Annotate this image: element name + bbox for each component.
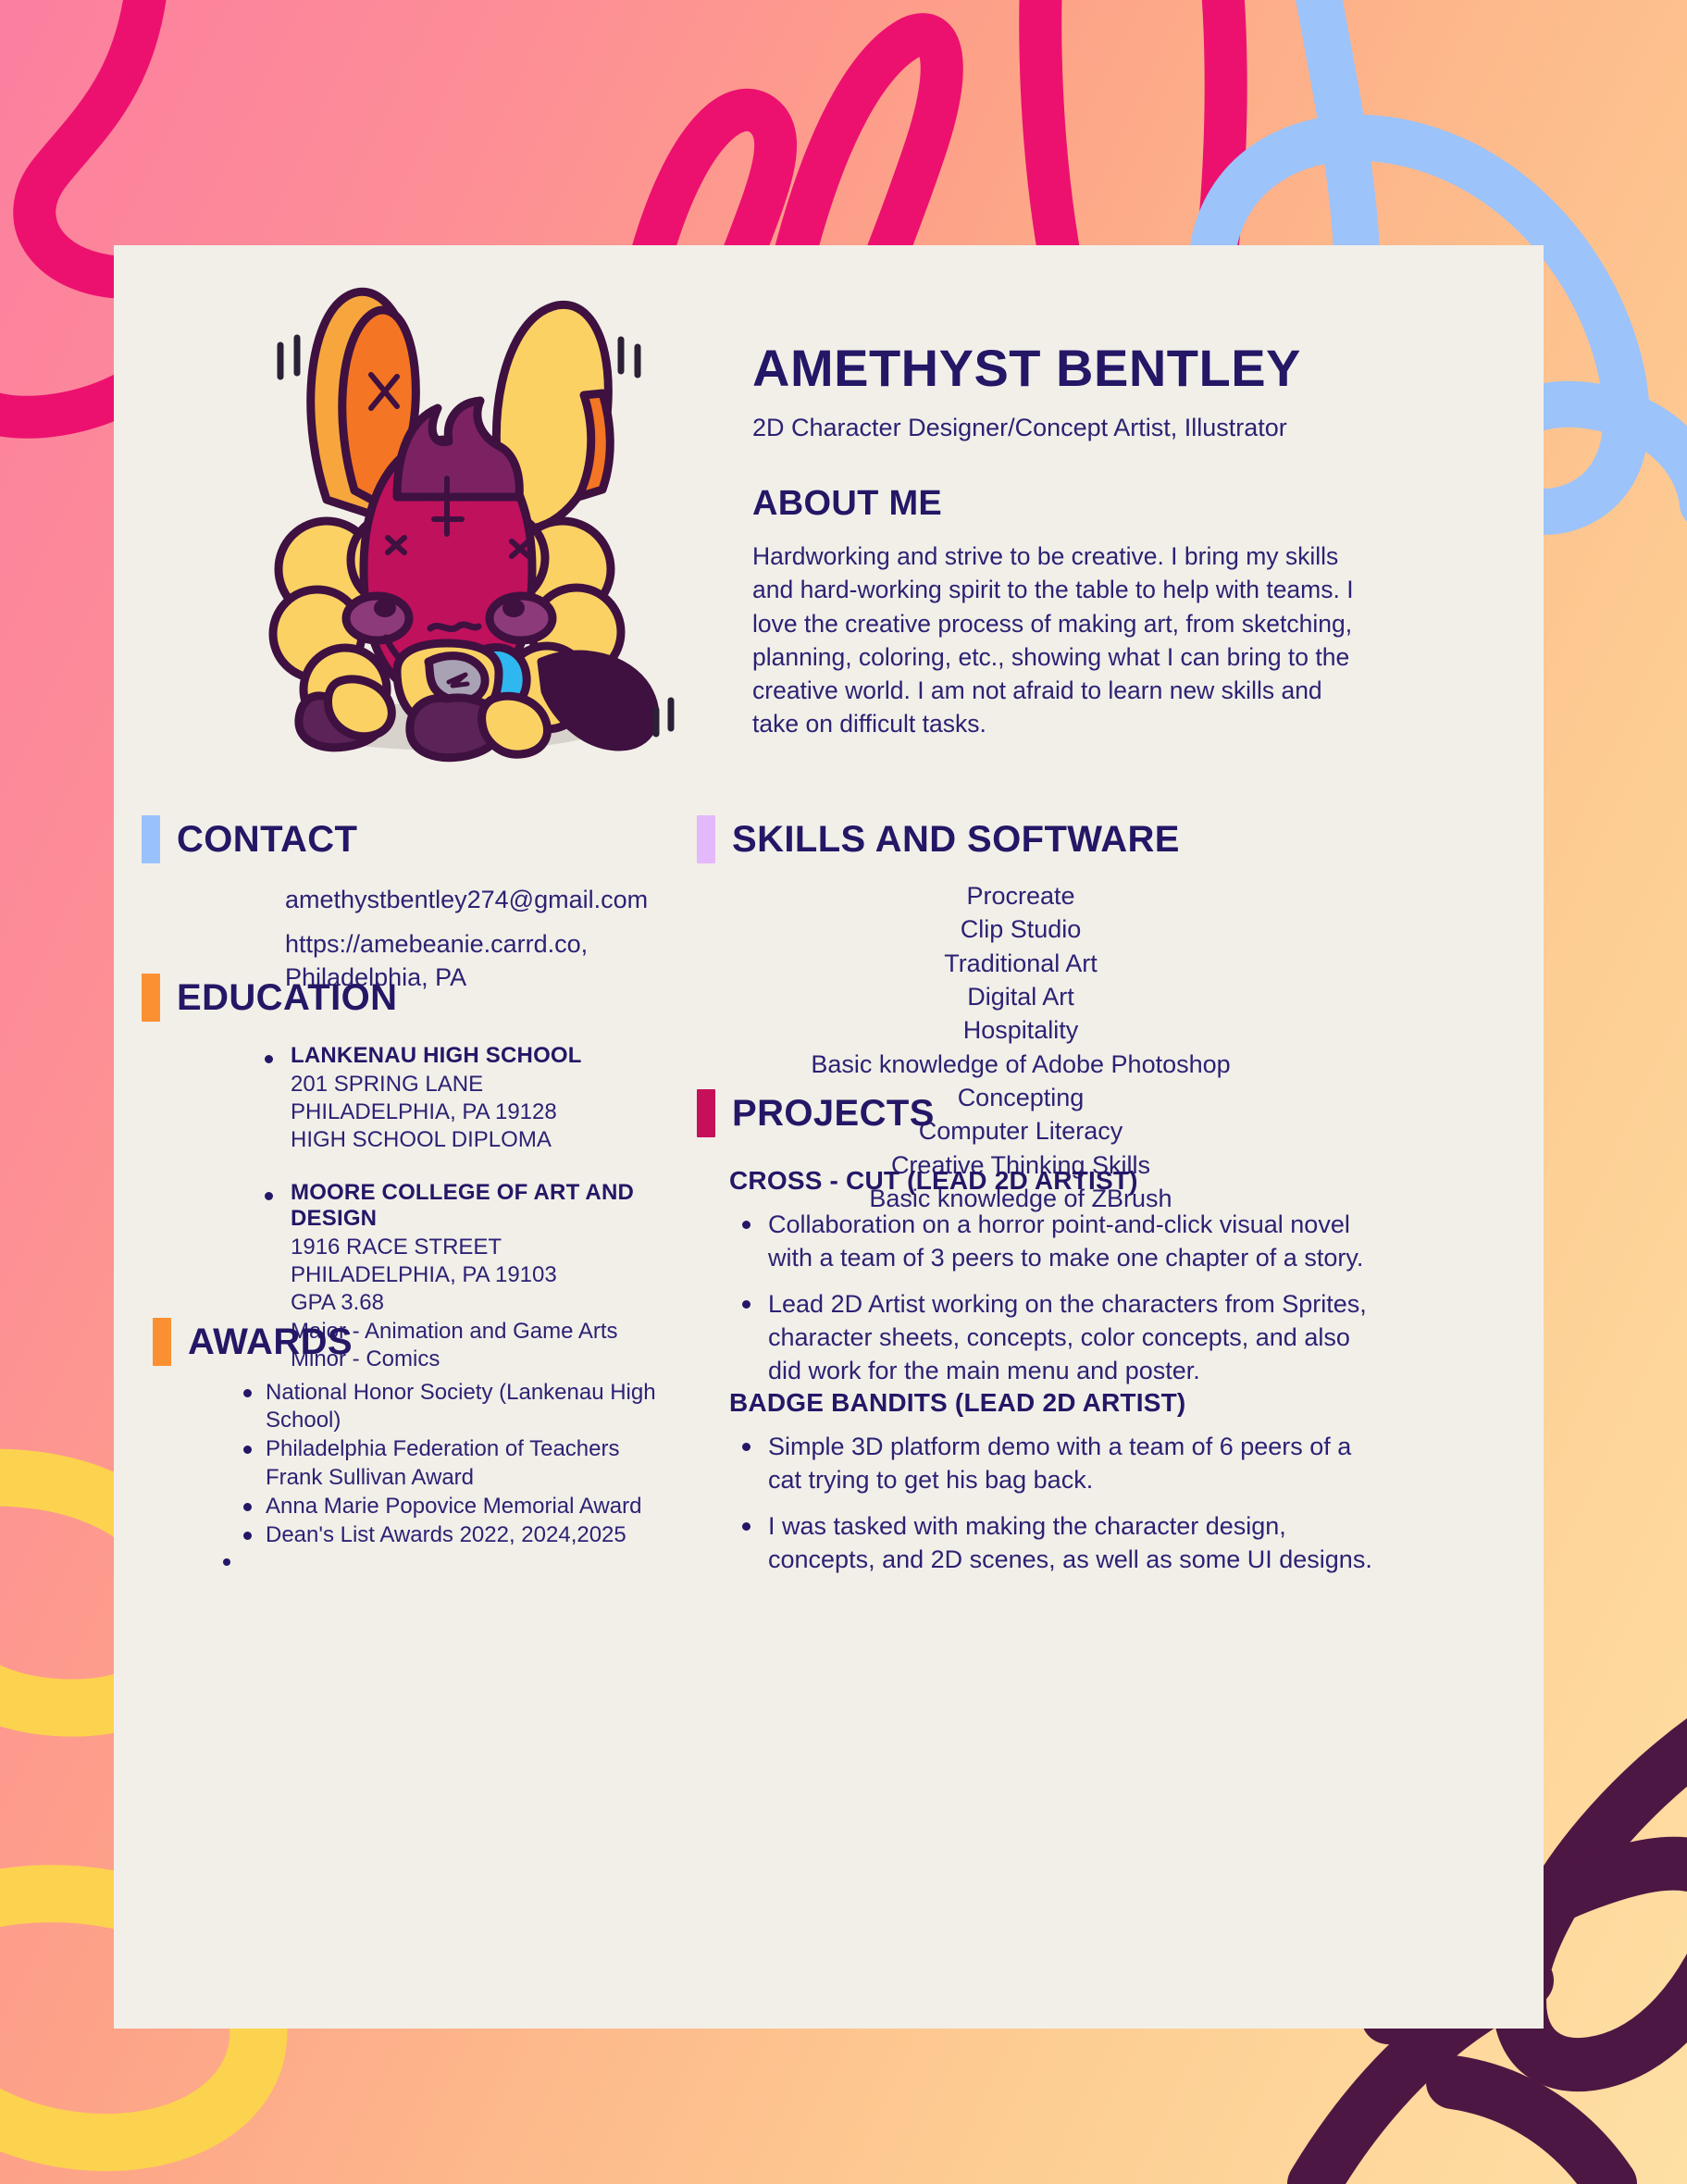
contact-email[interactable]: amethystbentley274@gmail.com (285, 884, 720, 917)
list-item: Digital Art (697, 980, 1345, 1013)
education-line: 201 SPRING LANE (291, 1071, 701, 1098)
contact-heading: CONTACT (177, 819, 357, 861)
education-line: GPA 3.68 (291, 1289, 701, 1317)
project-bullet: I was tasked with making the character d… (729, 1510, 1377, 1577)
projects-accent-bar (697, 1089, 715, 1137)
awards-heading: AWARDS (188, 1322, 353, 1363)
contact-section-header: CONTACT (142, 815, 357, 863)
list-item: National Honor Society (Lankenau High Sc… (234, 1379, 678, 1434)
job-subtitle: 2D Character Designer/Concept Artist, Il… (752, 414, 1287, 442)
education-line: PHILADELPHIA, PA 19128 (291, 1098, 701, 1126)
list-item: Hospitality (697, 1013, 1345, 1047)
about-heading: ABOUT ME (752, 484, 942, 524)
education-heading: EDUCATION (177, 977, 397, 1019)
education-section-header: EDUCATION (142, 974, 397, 1022)
project-entry: CROSS - CUT (LEAD 2D ARTIST) Collaborati… (729, 1166, 1377, 1388)
education-line: 1916 RACE STREET (291, 1234, 701, 1261)
education-line: HIGH SCHOOL DIPLOMA (291, 1126, 701, 1154)
education-entry: LANKENAU HIGH SCHOOL 201 SPRING LANE PHI… (257, 1043, 701, 1155)
list-item: Procreate (697, 879, 1345, 912)
skills-section-header: SKILLS AND SOFTWARE (697, 815, 1180, 863)
education-school: MOORE COLLEGE OF ART AND DESIGN (291, 1180, 701, 1232)
page-title: AMETHYST BENTLEY (752, 338, 1301, 398)
education-school: LANKENAU HIGH SCHOOL (291, 1043, 701, 1069)
skills-list: Procreate Clip Studio Traditional Art Di… (697, 879, 1345, 1215)
education-line: PHILADELPHIA, PA 19103 (291, 1261, 701, 1289)
project-bullet: Lead 2D Artist working on the characters… (729, 1288, 1377, 1388)
list-item: Clip Studio (697, 912, 1345, 946)
awards-section-header: AWARDS (153, 1318, 353, 1366)
project-bullet: Collaboration on a horror point-and-clic… (729, 1209, 1377, 1275)
about-paragraph: Hardworking and strive to be creative. I… (752, 540, 1363, 741)
resume-card: AMETHYST BENTLEY 2D Character Designer/C… (114, 245, 1544, 2029)
list-item: Dean's List Awards 2022, 2024,2025 (234, 1521, 678, 1549)
awards-list: National Honor Society (Lankenau High Sc… (234, 1379, 678, 1575)
project-bullet: Simple 3D platform demo with a team of 6… (729, 1431, 1377, 1497)
awards-accent-bar (153, 1318, 171, 1366)
list-item: Philadelphia Federation of Teachers Fran… (234, 1435, 678, 1491)
projects-heading: PROJECTS (732, 1093, 935, 1135)
mascot-illustration (216, 264, 678, 763)
contact-website[interactable]: https://amebeanie.carrd.co, (285, 928, 720, 962)
education-accent-bar (142, 974, 160, 1022)
skills-accent-bar (697, 815, 715, 863)
project-title: CROSS - CUT (LEAD 2D ARTIST) (729, 1166, 1377, 1196)
list-item (214, 1550, 678, 1574)
list-item: Basic knowledge of Adobe Photoshop (697, 1048, 1345, 1081)
list-item: Traditional Art (697, 947, 1345, 980)
project-title: BADGE BANDITS (LEAD 2D ARTIST) (729, 1388, 1377, 1418)
projects-section-header: PROJECTS (697, 1089, 935, 1137)
project-entry: BADGE BANDITS (LEAD 2D ARTIST) Simple 3D… (729, 1388, 1377, 1577)
skills-heading: SKILLS AND SOFTWARE (732, 819, 1180, 861)
contact-accent-bar (142, 815, 160, 863)
list-item: Anna Marie Popovice Memorial Award (234, 1493, 678, 1520)
